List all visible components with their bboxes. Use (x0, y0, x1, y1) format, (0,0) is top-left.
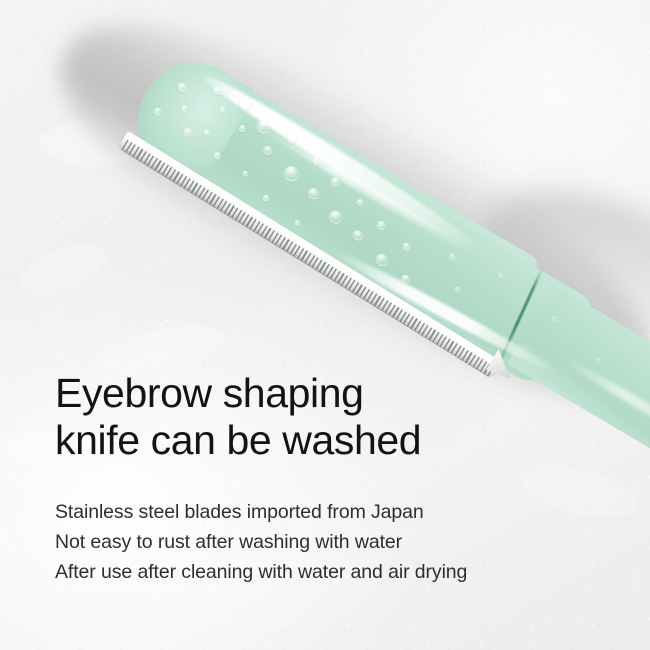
background-water-smear (0, 430, 110, 466)
product-marketing-poster: Eyebrow shaping knife can be washed Stai… (0, 0, 650, 650)
